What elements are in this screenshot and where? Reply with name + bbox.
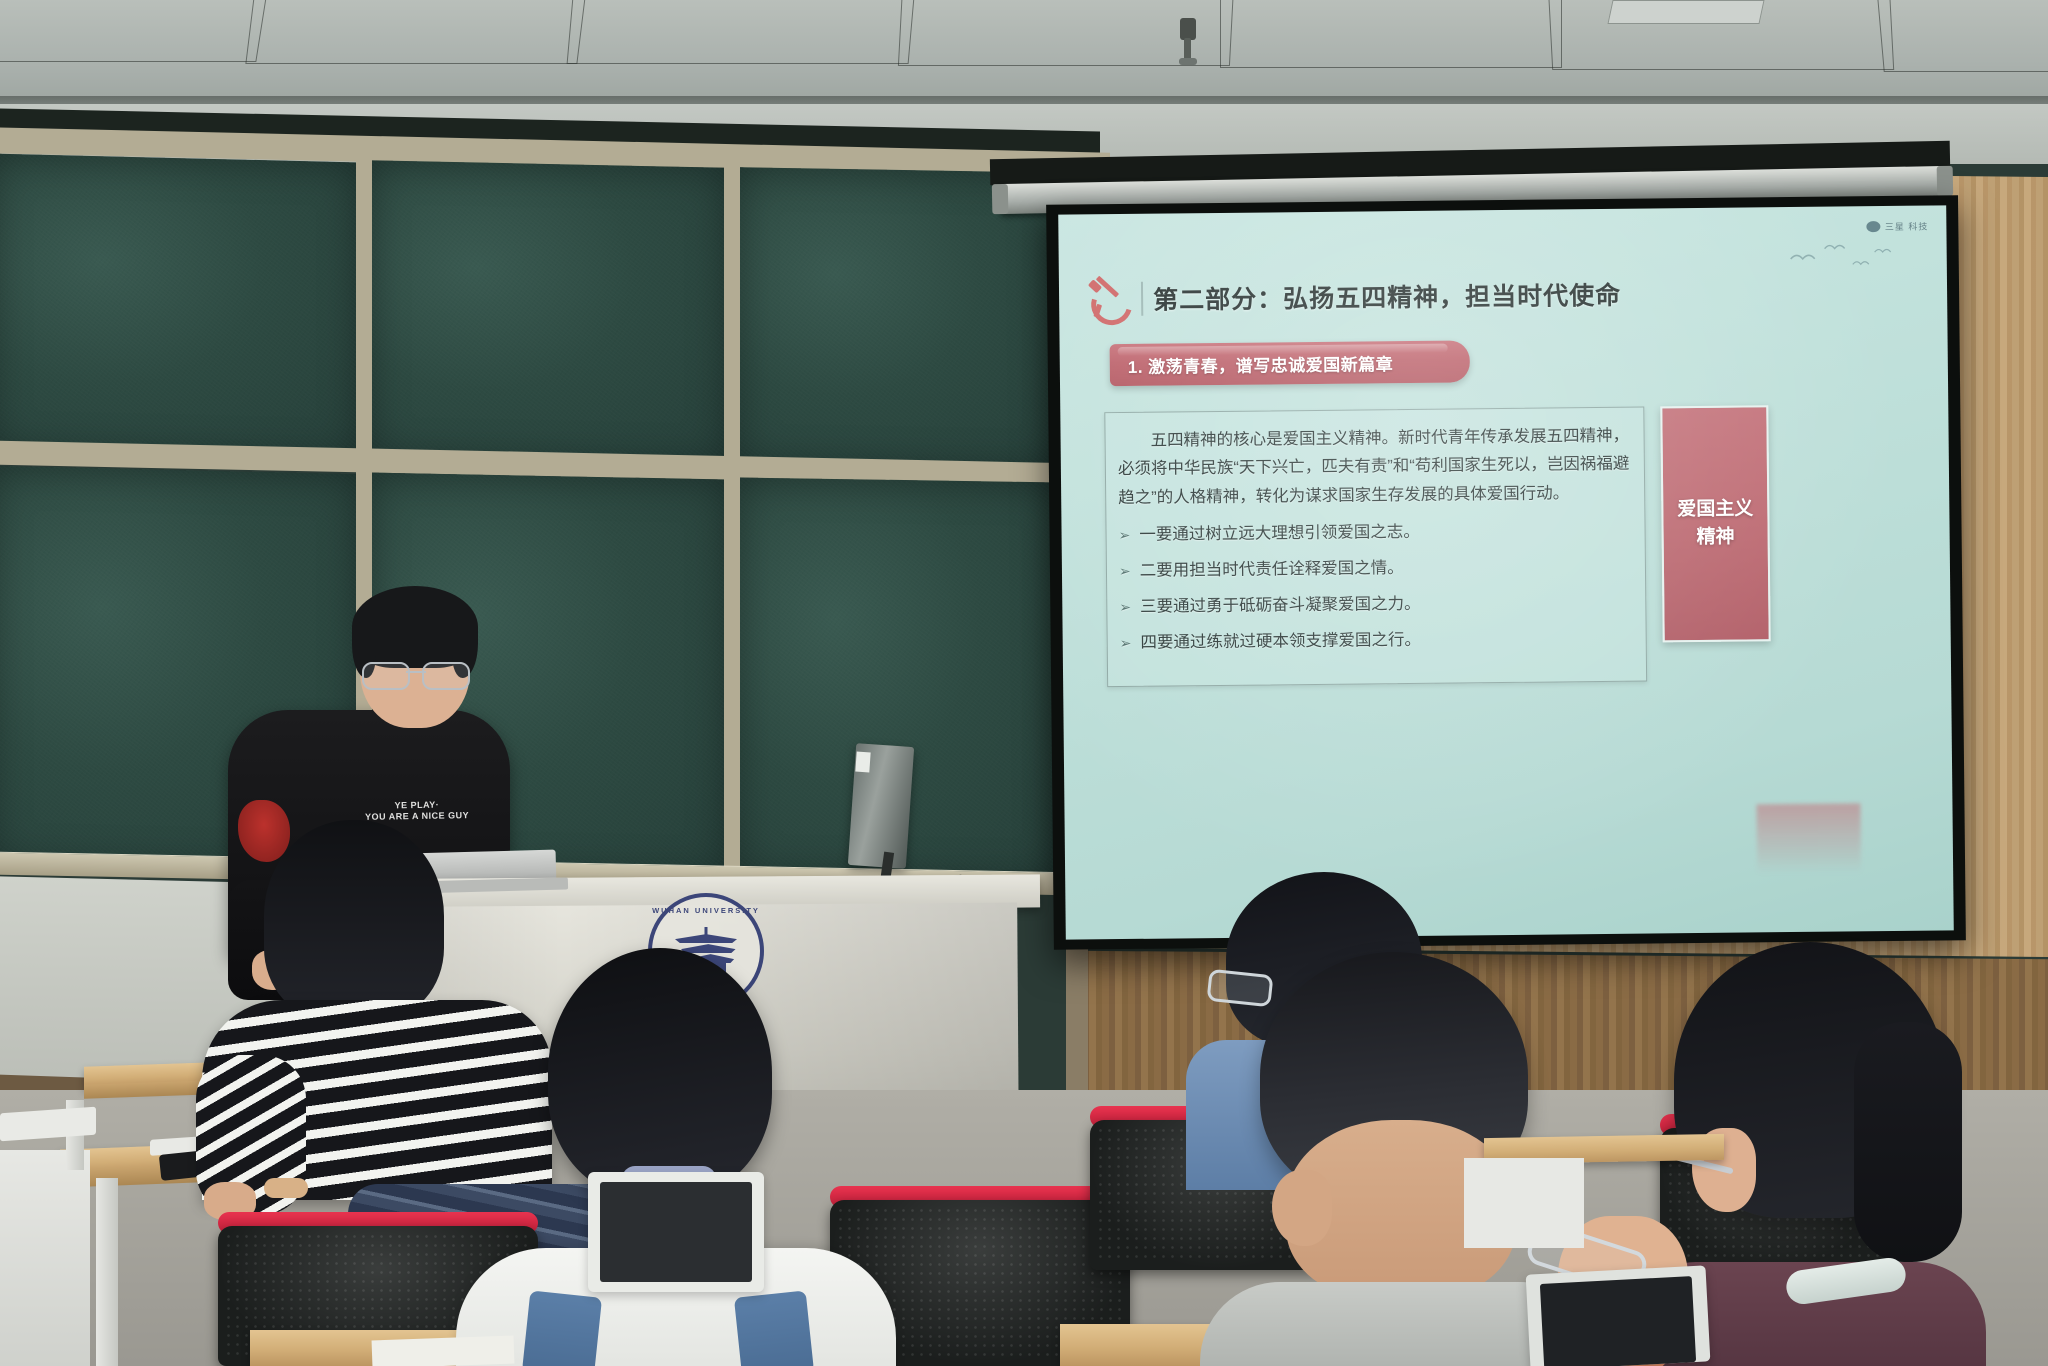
student-striped-shirt bbox=[212, 880, 542, 1180]
board-divider-2 bbox=[724, 160, 740, 890]
ceiling-tile bbox=[0, 0, 268, 62]
ceiling-tile bbox=[1220, 0, 1562, 68]
overall-strap-right bbox=[734, 1290, 814, 1366]
student-ponytail-overalls bbox=[500, 948, 860, 1366]
student-hair bbox=[264, 820, 444, 1020]
slide-content: 三星 科技 第二部分：弘扬五四精神，担当时代使 bbox=[1058, 205, 1954, 939]
slide-keyword-card: 爱国主义精神 bbox=[1660, 405, 1770, 642]
slide-bullet-item: ➢ 四要通过练就过硬本领支撑爱国之行。 bbox=[1120, 629, 1634, 653]
slide-bullet-list: ➢ 一要通过树立远大理想引领爱国之志。 ➢ 二要用担当时代责任诠释爱国之情。 ➢… bbox=[1118, 521, 1633, 653]
student-hair bbox=[548, 948, 772, 1198]
presenter-glasses-icon bbox=[362, 662, 470, 686]
bullet-arrow-icon: ➢ bbox=[1120, 635, 1132, 651]
student-ear bbox=[1272, 1170, 1332, 1246]
bullet-text: 四要通过练就过硬本领支撑爱国之行。 bbox=[1140, 631, 1421, 653]
ceiling-vent bbox=[1607, 0, 1764, 24]
ceiling-tile bbox=[1876, 0, 2048, 72]
desk-panel bbox=[1464, 1158, 1584, 1248]
presenter-shirt-text: YE PLAY· YOU ARE A NICE GUY bbox=[352, 799, 482, 824]
projection-screen[interactable]: 三星 科技 第二部分：弘扬五四精神，担当时代使 bbox=[1046, 195, 1966, 950]
bullet-text: 二要用担当时代责任诠释爱国之情。 bbox=[1140, 559, 1404, 581]
desk-side-panel bbox=[0, 1150, 90, 1366]
tablet-screen[interactable] bbox=[600, 1182, 752, 1282]
slide-bullet-item: ➢ 三要通过勇于砥砺奋斗凝聚爱国之力。 bbox=[1119, 593, 1633, 617]
projected-slide: 三星 科技 第二部分：弘扬五四精神，担当时代使 bbox=[1058, 205, 1954, 939]
blackboard-left-upper bbox=[0, 153, 360, 462]
slide-paragraph: 五四精神的核心是爱国主义精神。新时代青年传承发展五四精神，必须将中华民族“天下兴… bbox=[1117, 422, 1632, 513]
slide-title: 第二部分：弘扬五四精神，担当时代使命 bbox=[1153, 276, 1621, 317]
keyword-line-2: 精神 bbox=[1697, 527, 1735, 548]
bullet-arrow-icon: ➢ bbox=[1119, 563, 1131, 579]
slide-bullet-item: ➢ 一要通过树立远大理想引领爱国之志。 bbox=[1118, 521, 1632, 545]
ceiling-tile bbox=[567, 0, 916, 64]
ceiling-tile bbox=[245, 0, 586, 64]
birds-decoration-icon bbox=[1783, 240, 1903, 281]
slide-watermark-logo: 三星 科技 bbox=[1867, 220, 1929, 234]
monitor-label bbox=[855, 752, 870, 773]
student-wrist bbox=[264, 1178, 308, 1198]
classroom-photo: 三星 科技 第二部分：弘扬五四精神，担当时代使 bbox=[0, 0, 2048, 1366]
slide-section-banner: 1. 激荡青春，谱写忠诚爱国新篇章 bbox=[1110, 340, 1470, 386]
bullet-text: 一要通过树立远大理想引领爱国之志。 bbox=[1139, 523, 1420, 545]
slide-logo-text: 三星 科技 bbox=[1885, 220, 1929, 233]
slide-text-card: 五四精神的核心是爱国主义精神。新时代青年传承发展五四精神，必须将中华民族“天下兴… bbox=[1104, 407, 1647, 688]
keyword-line-1: 爱国主义 bbox=[1677, 499, 1753, 521]
overall-strap-left bbox=[522, 1290, 602, 1366]
banner-highlight bbox=[1118, 344, 1448, 356]
title-divider bbox=[1141, 282, 1143, 316]
logo-mark-icon bbox=[1867, 221, 1881, 232]
slide-body: 五四精神的核心是爱国主义精神。新时代青年传承发展五四精神，必须将中华民族“天下兴… bbox=[1104, 404, 1925, 688]
paper-sheet bbox=[372, 1336, 515, 1366]
slide-bullet-item: ➢ 二要用担当时代责任诠释爱国之情。 bbox=[1119, 557, 1633, 581]
desk-leg bbox=[96, 1178, 118, 1366]
slide-keyword-card-text: 爱国主义精神 bbox=[1677, 496, 1754, 552]
student-ponytail bbox=[1854, 1022, 1962, 1262]
keyword-card-reflection bbox=[1756, 803, 1861, 874]
laptop-screen[interactable] bbox=[1540, 1276, 1696, 1366]
bullet-text: 三要通过勇于砥砺奋斗凝聚爱国之力。 bbox=[1140, 595, 1421, 617]
party-emblem-icon bbox=[1085, 278, 1131, 320]
emblem-arc-text: WUHAN UNIVERSITY bbox=[652, 906, 760, 915]
bullet-arrow-icon: ➢ bbox=[1119, 599, 1131, 615]
fire-sprinkler-icon bbox=[1178, 18, 1198, 70]
bullet-arrow-icon: ➢ bbox=[1119, 527, 1131, 543]
blackboard-center-upper bbox=[368, 160, 728, 468]
